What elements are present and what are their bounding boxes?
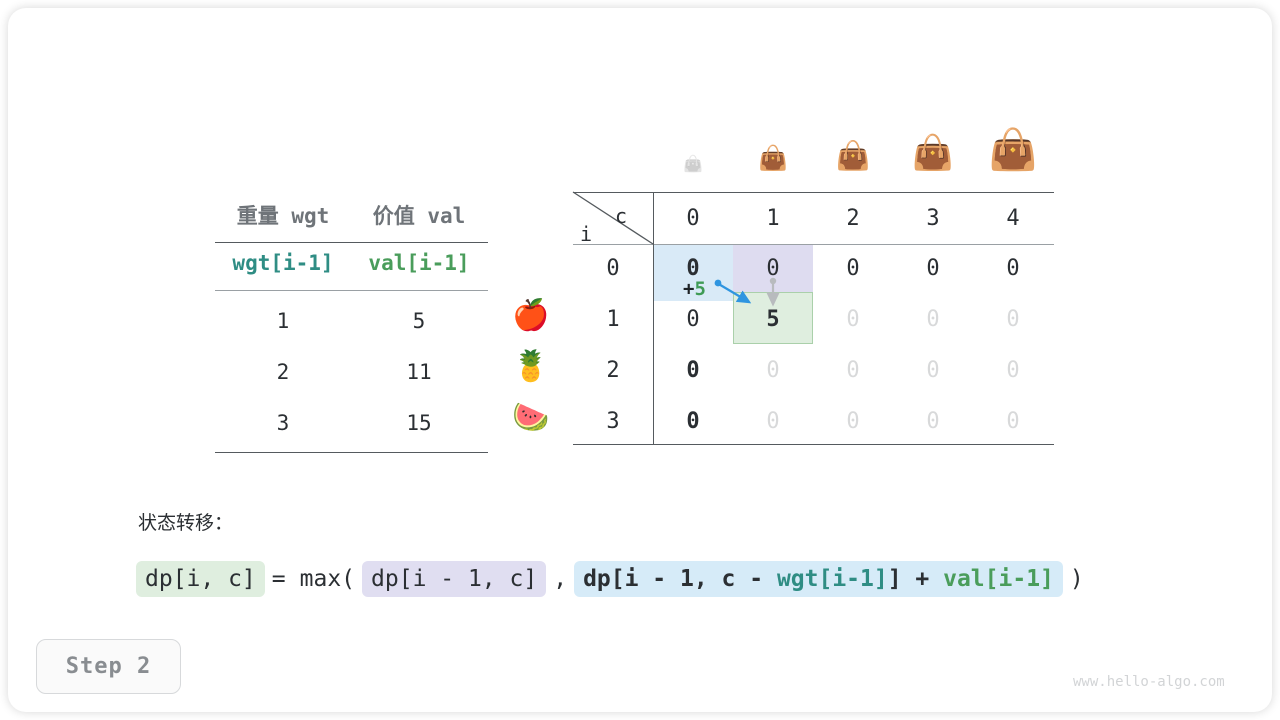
items-header-wgt: 重量 wgt — [215, 200, 351, 230]
bag-size-1-icon: 👜 — [751, 146, 795, 170]
pineapple-icon: 🍍 — [508, 352, 554, 382]
formula-target: dp[i, c] — [136, 561, 265, 597]
items-rule-mid — [215, 290, 488, 291]
items-rule-top — [215, 242, 488, 243]
watermark: www.hello-algo.com — [1073, 674, 1225, 690]
items-row-0-wgt: 1 — [215, 309, 351, 333]
slide-stage: 👜 👜 👜 👜 👜 重量 wgt 价值 val wgt[i-1] val[i-1… — [0, 0, 1280, 720]
added-value: 5 — [694, 278, 705, 300]
items-subheader-wgt: wgt[i-1] — [215, 251, 351, 275]
items-rule-bottom — [215, 452, 488, 453]
bag-size-4-icon: 👜 — [983, 130, 1043, 170]
items-row-2-wgt: 3 — [215, 411, 351, 435]
arrow-diagonal-blue — [715, 280, 749, 302]
formula-equals: = — [265, 566, 293, 592]
items-table: 重量 wgt 价值 val wgt[i-1] val[i-1] 1 5 2 11… — [215, 190, 488, 445]
step-badge-label: Step 2 — [66, 654, 151, 679]
plus-sign: + — [683, 278, 694, 300]
items-header-val: 价值 val — [351, 200, 487, 230]
formula-take-val: val[i-1] — [943, 566, 1054, 592]
formula-take-wgt: wgt[i-1] — [777, 566, 888, 592]
formula-take-prefix: dp[i - 1, c - — [583, 566, 777, 592]
slide-canvas: 👜 👜 👜 👜 👜 重量 wgt 价值 val wgt[i-1] val[i-1… — [0, 0, 1280, 720]
formula-take-mid: ] + — [888, 566, 943, 592]
items-row-1-wgt: 2 — [215, 360, 351, 384]
apple-icon: 🍎 — [508, 301, 554, 331]
value-added-annotation: +5 — [683, 278, 706, 300]
items-subheader-val: val[i-1] — [351, 251, 487, 275]
formula-comma: , — [546, 566, 574, 592]
step-badge: Step 2 — [36, 639, 181, 694]
formula-close-paren: ) — [1063, 566, 1091, 592]
transition-formula: dp[i, c] = max( dp[i - 1, c] , dp[i - 1,… — [136, 561, 1091, 597]
transition-arrows — [573, 192, 1054, 445]
items-row-2-val: 15 — [351, 411, 487, 435]
transition-label: 状态转移： — [138, 508, 233, 535]
items-row-1-val: 11 — [351, 360, 487, 384]
bag-size-3-icon: 👜 — [906, 136, 960, 170]
formula-option-take: dp[i - 1, c - wgt[i-1]] + val[i-1] — [574, 561, 1063, 597]
arrow-vertical-gray — [770, 278, 776, 304]
items-row-0-val: 5 — [351, 309, 487, 333]
watermelon-icon: 🍉 — [508, 403, 554, 433]
dp-table: c i 0 1 2 3 4 0 1 2 3 0 0 0 0 0 0 5 0 0 … — [573, 192, 1054, 445]
bag-size-2-icon: 👜 — [829, 142, 877, 170]
bag-empty-icon: 👜 — [673, 156, 713, 172]
formula-max-open: max( — [293, 566, 362, 592]
formula-option-skip: dp[i - 1, c] — [362, 561, 546, 597]
